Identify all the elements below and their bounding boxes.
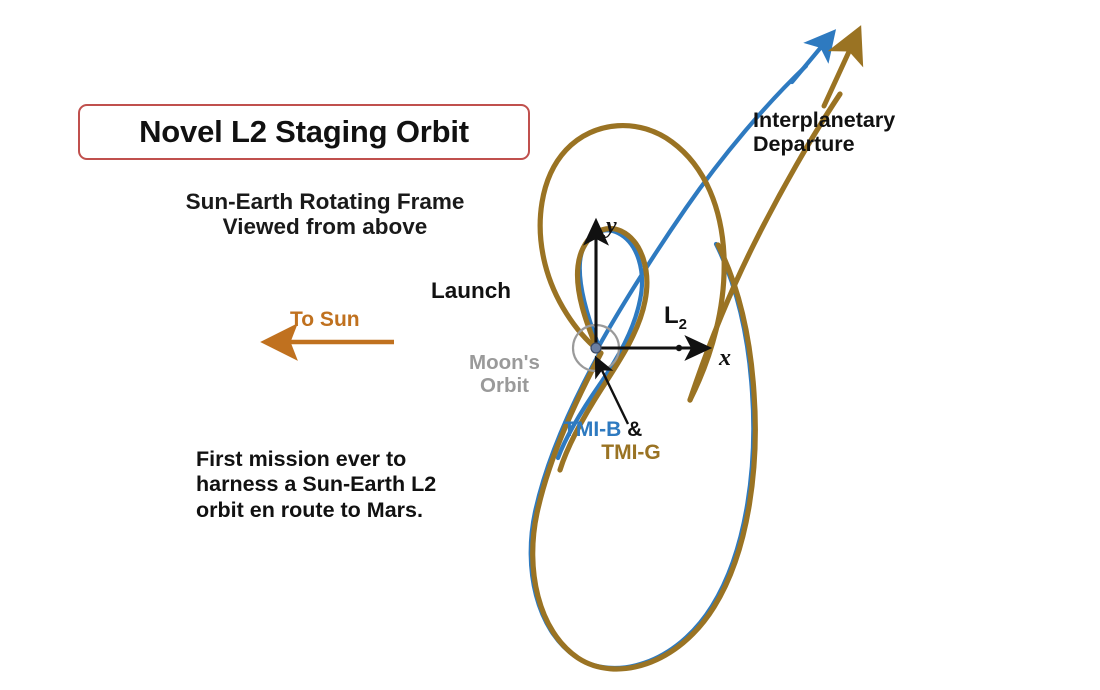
l2-letter: L	[664, 302, 679, 329]
earth-origin-dot	[591, 343, 601, 353]
trajectory-tmi-g	[533, 94, 840, 669]
departure-line-1: Interplanetary	[753, 108, 895, 132]
moons-orbit-line-2: Orbit	[452, 375, 557, 398]
departure-line-2: Departure	[753, 132, 895, 156]
l2-label: L2	[664, 302, 687, 333]
mission-blurb: First mission ever to harness a Sun-Eart…	[196, 447, 456, 523]
tmi-label-line-2: TMI-G	[563, 442, 693, 465]
page-title: Novel L2 Staging Orbit	[139, 114, 469, 150]
departure-arrows	[792, 32, 858, 106]
tmig-upper-halo-loop	[540, 126, 724, 400]
l2-point-dot	[676, 345, 682, 351]
launch-label: Launch	[431, 278, 511, 304]
departure-arrow-blue	[792, 34, 832, 82]
subtitle-block: Sun-Earth Rotating Frame Viewed from abo…	[150, 189, 500, 240]
to-sun-label: To Sun	[290, 308, 360, 332]
tmi-label-group: TMI-B & TMI-G	[563, 419, 693, 464]
axes	[596, 224, 706, 348]
figure-canvas: Novel L2 Staging Orbit Sun-Earth Rotatin…	[0, 0, 1100, 690]
tmi-ampersand: &	[627, 418, 642, 441]
x-axis-label: x	[719, 345, 731, 372]
interplanetary-departure-label: Interplanetary Departure	[753, 108, 895, 157]
tmi-b-label: TMI-B	[563, 418, 621, 441]
moons-orbit-label: Moon's Orbit	[452, 352, 557, 397]
tmi-label-line-1: TMI-B &	[563, 419, 693, 442]
moons-orbit-line-1: Moon's	[452, 352, 557, 375]
title-plate: Novel L2 Staging Orbit	[78, 104, 530, 160]
l2-subscript: 2	[679, 316, 687, 333]
subtitle-line-1: Sun-Earth Rotating Frame	[150, 189, 500, 214]
y-axis-label: y	[606, 213, 617, 240]
tmi-g-label: TMI-G	[601, 441, 660, 464]
subtitle-line-2: Viewed from above	[150, 214, 500, 239]
